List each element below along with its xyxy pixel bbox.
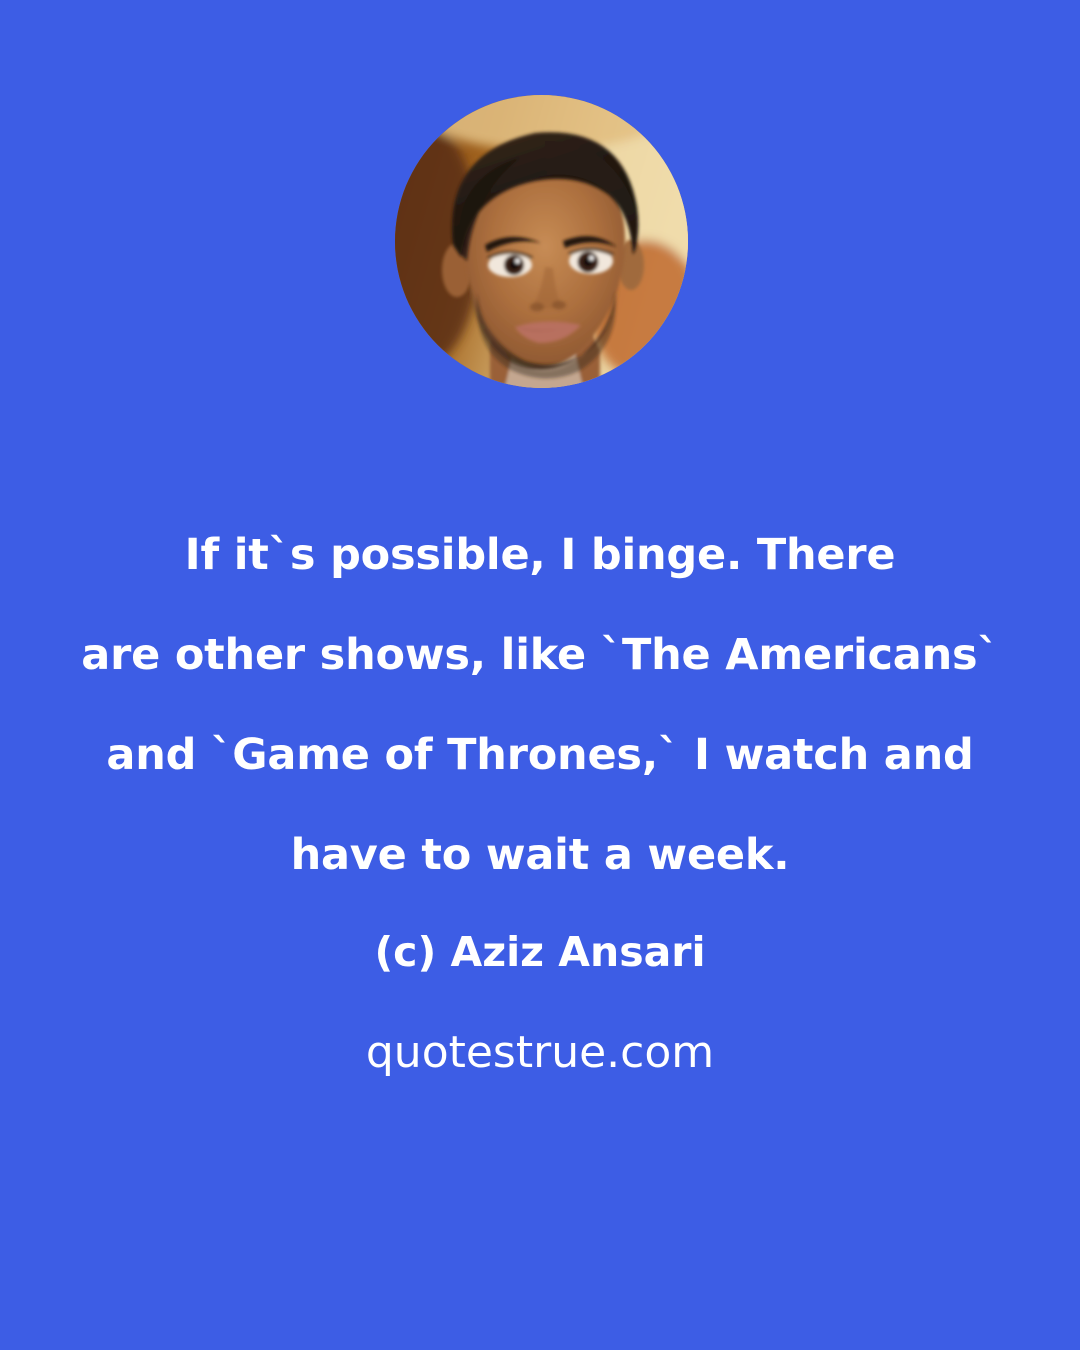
avatar-wrapper: [395, 95, 688, 388]
quote-line-4: have to wait a week.: [0, 805, 1080, 905]
avatar: [395, 95, 688, 388]
quote-card: If it`s possible, I binge. There are oth…: [0, 0, 1080, 1350]
quote-line-3: and `Game of Thrones,` I watch and: [0, 705, 1080, 805]
quote-attribution: (c) Aziz Ansari: [0, 922, 1080, 982]
source-website: quotestrue.com: [0, 1022, 1080, 1084]
portrait-photo-icon: [395, 95, 688, 388]
quote-text: If it`s possible, I binge. There are oth…: [0, 505, 1080, 905]
quote-line-2: are other shows, like `The Americans`: [0, 605, 1080, 705]
quote-line-1: If it`s possible, I binge. There: [0, 505, 1080, 605]
